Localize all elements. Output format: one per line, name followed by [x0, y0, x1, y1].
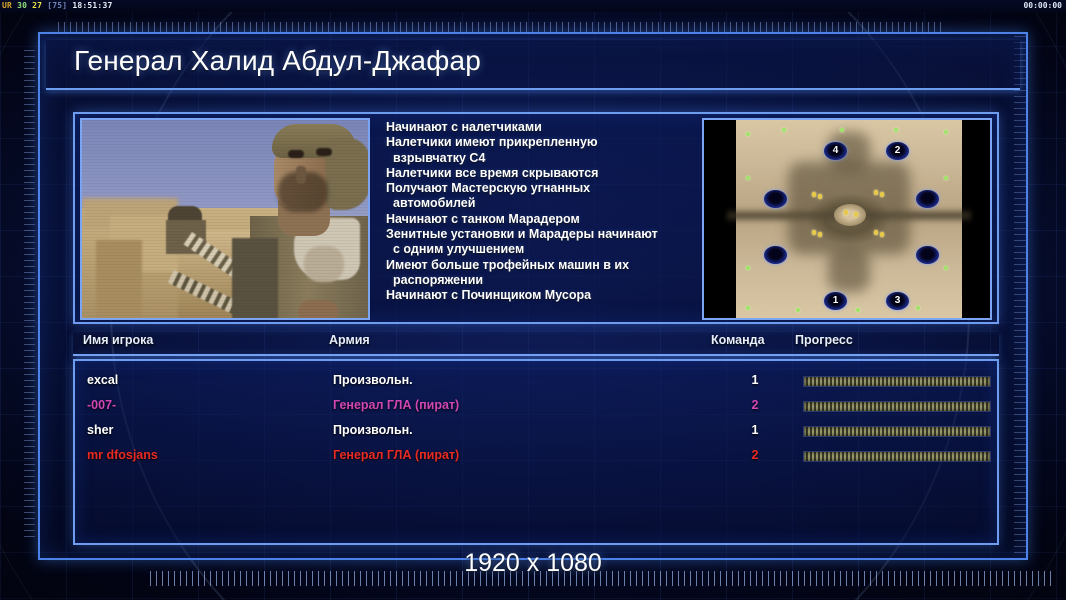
- ruler-left: [24, 50, 35, 540]
- map-start-position[interactable]: [916, 190, 939, 208]
- map-start-position[interactable]: [916, 246, 939, 264]
- ability-line: Налетчики имеют прикрепленную: [386, 135, 684, 150]
- ability-line: Получают Мастерскую угнанных: [386, 181, 684, 196]
- player-team[interactable]: 2: [747, 398, 763, 412]
- player-row[interactable]: mr dfosjansГенерал ГЛА (пират)2: [75, 444, 997, 470]
- column-header-army: Армия: [329, 333, 370, 347]
- player-name: sher: [87, 423, 113, 437]
- player-progress-fill: [804, 402, 990, 411]
- player-list-header: Имя игрока Армия Команда Прогресс: [73, 332, 999, 356]
- column-header-progress: Прогресс: [795, 333, 853, 347]
- status-value-3: [75]: [47, 1, 67, 10]
- player-name: mr dfosjans: [87, 448, 158, 462]
- player-army[interactable]: Генерал ГЛА (пират): [333, 448, 459, 462]
- map-start-position[interactable]: [764, 190, 787, 208]
- player-name: -007-: [87, 398, 116, 412]
- resolution-label: 1920 x 1080: [0, 549, 1066, 578]
- title-bar: Генерал Халид Абдул-Джафар: [46, 40, 1020, 90]
- ability-line: взрывчатку С4: [386, 151, 684, 166]
- column-header-team: Команда: [711, 333, 765, 347]
- player-progress-bar: [803, 451, 991, 462]
- player-progress-fill: [804, 427, 990, 436]
- ability-line: распоряжении: [386, 273, 684, 288]
- status-bar: UR 30 27 [75] 18:51:37 00:00:00: [0, 0, 1066, 12]
- main-window: Генерал Халид Абдул-Джафар: [38, 32, 1028, 560]
- map-start-position[interactable]: 3: [886, 292, 909, 310]
- general-portrait: [80, 118, 370, 320]
- player-team[interactable]: 2: [747, 448, 763, 462]
- player-progress-bar: [803, 426, 991, 437]
- player-team[interactable]: 1: [747, 423, 763, 437]
- status-value-1: 30: [17, 1, 27, 10]
- player-row[interactable]: sherПроизвольн.1: [75, 419, 997, 445]
- ability-line: Имеют больше трофейных машин в их: [386, 258, 684, 273]
- general-abilities-list: Начинают с налетчикамиНалетчики имеют пр…: [386, 118, 684, 320]
- portrait-artwork: [82, 120, 368, 318]
- status-timer: 00:00:00: [1023, 0, 1062, 12]
- player-progress-bar: [803, 376, 991, 387]
- ability-line: автомобилей: [386, 196, 684, 211]
- ability-line: Начинают с налетчиками: [386, 120, 684, 135]
- ability-line: Зенитные установки и Марадеры начинают: [386, 227, 684, 242]
- player-row[interactable]: excalПроизвольн.1: [75, 369, 997, 395]
- player-progress-bar: [803, 401, 991, 412]
- status-prefix: UR: [2, 1, 12, 10]
- player-team[interactable]: 1: [747, 373, 763, 387]
- player-army[interactable]: Произвольн.: [333, 423, 413, 437]
- player-army[interactable]: Генерал ГЛА (пират): [333, 398, 459, 412]
- ability-line: Начинают с танком Марадером: [386, 212, 684, 227]
- player-list-panel: excalПроизвольн.1-007-Генерал ГЛА (пират…: [73, 359, 999, 545]
- map-preview: 4213: [702, 118, 992, 320]
- player-row[interactable]: -007-Генерал ГЛА (пират)2: [75, 394, 997, 420]
- status-bar-left: UR 30 27 [75] 18:51:37: [2, 0, 112, 12]
- player-army[interactable]: Произвольн.: [333, 373, 413, 387]
- general-info-panel: Начинают с налетчикамиНалетчики имеют пр…: [73, 112, 999, 324]
- player-name: excal: [87, 373, 118, 387]
- ability-line: Налетчики все время скрываются: [386, 166, 684, 181]
- player-progress-fill: [804, 377, 990, 386]
- map-start-position[interactable]: 2: [886, 142, 909, 160]
- page-title: Генерал Халид Абдул-Джафар: [74, 45, 481, 77]
- status-clock: 18:51:37: [72, 1, 112, 10]
- player-progress-fill: [804, 452, 990, 461]
- status-value-2: 27: [32, 1, 42, 10]
- map-start-position[interactable]: [764, 246, 787, 264]
- map-preview-image: 4213: [736, 120, 962, 318]
- map-start-position[interactable]: 1: [824, 292, 847, 310]
- column-header-name: Имя игрока: [83, 333, 153, 347]
- map-start-position[interactable]: 4: [824, 142, 847, 160]
- ability-line: Начинают с Починщиком Мусора: [386, 288, 684, 303]
- ability-line: с одним улучшением: [386, 242, 684, 257]
